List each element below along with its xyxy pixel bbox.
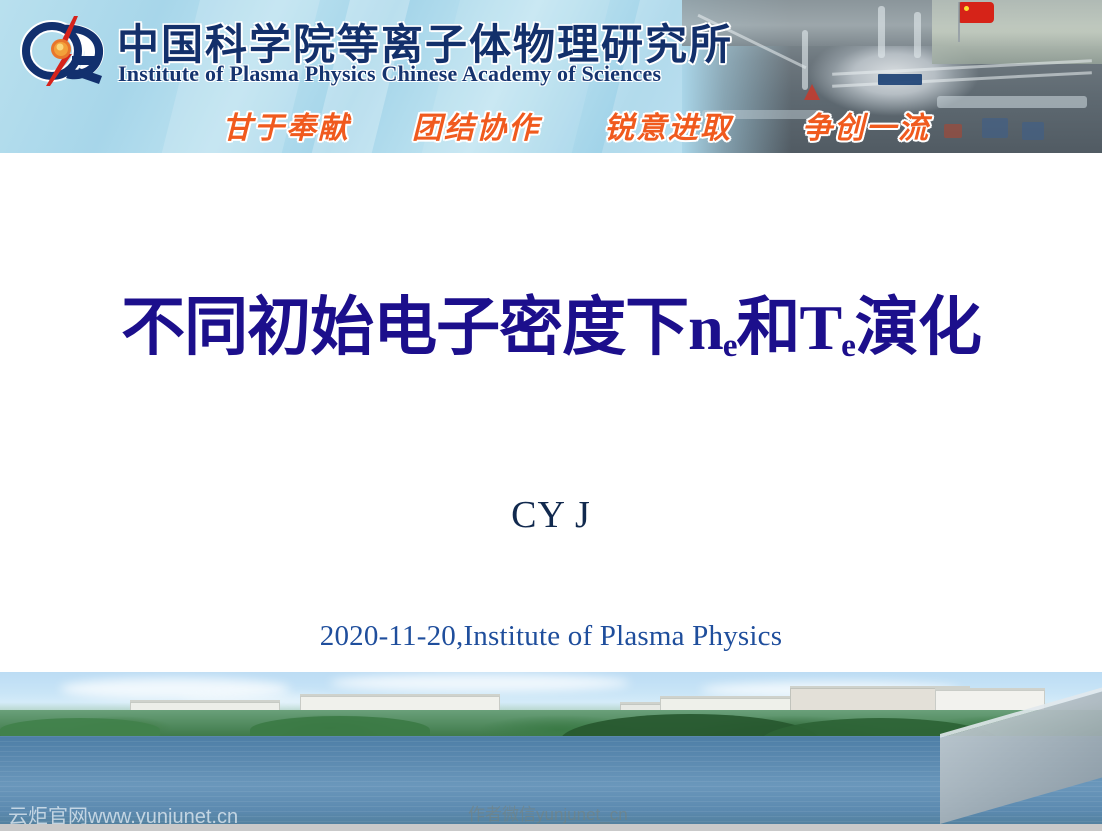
photo-lake-water	[0, 736, 1102, 824]
header-banner: 中国科学院等离子体物理研究所 Institute of Plasma Physi…	[0, 0, 1102, 153]
china-flag-icon	[960, 2, 994, 23]
photo-machine-label	[878, 74, 922, 85]
title-text-part1: 不同初始电子密度下	[121, 291, 688, 363]
campus-lakeside-photo	[0, 672, 1102, 824]
photo-red-marker	[804, 84, 820, 100]
slogan-4: 争创一流	[802, 103, 930, 147]
photo-pipe	[914, 12, 921, 58]
presentation-slide: 中国科学院等离子体物理研究所 Institute of Plasma Physi…	[0, 0, 1102, 831]
title-symbol-n: n	[688, 292, 723, 363]
title-symbol-t: T	[799, 292, 841, 363]
photo-cloud	[330, 674, 630, 692]
slide-body: 不同初始电子密度下ne和Te演化 CY J 2020-11-20,Institu…	[0, 153, 1102, 672]
photo-equipment-box	[1022, 122, 1044, 140]
title-text-part2: 演化	[855, 291, 981, 363]
title-symbol-te: Te	[799, 292, 854, 363]
photo-equipment-box	[944, 124, 962, 138]
photo-pipe	[937, 96, 1087, 108]
plasma-institute-logo-icon	[16, 12, 114, 90]
slogan-3: 锐意进取	[604, 103, 732, 147]
page-title: 不同初始电子密度下ne和Te演化	[0, 294, 1102, 361]
photo-pipe	[802, 30, 808, 90]
title-text-mid: 和	[736, 291, 799, 363]
slogan-1: 甘于奉献	[222, 103, 350, 147]
title-subscript-e2: e	[841, 327, 855, 364]
institute-name-en: Institute of Plasma Physics Chinese Acad…	[118, 61, 661, 87]
slogan-2: 团结协作	[412, 103, 540, 147]
photo-pipe	[878, 6, 885, 58]
author-name: CY J	[0, 493, 1102, 537]
title-subscript-e1: e	[723, 327, 737, 364]
title-symbol-ne: ne	[688, 292, 736, 363]
photo-equipment-box	[982, 118, 1008, 138]
bottom-strip	[0, 824, 1102, 831]
date-affiliation-line: 2020-11-20,Institute of Plasma Physics	[0, 620, 1102, 653]
